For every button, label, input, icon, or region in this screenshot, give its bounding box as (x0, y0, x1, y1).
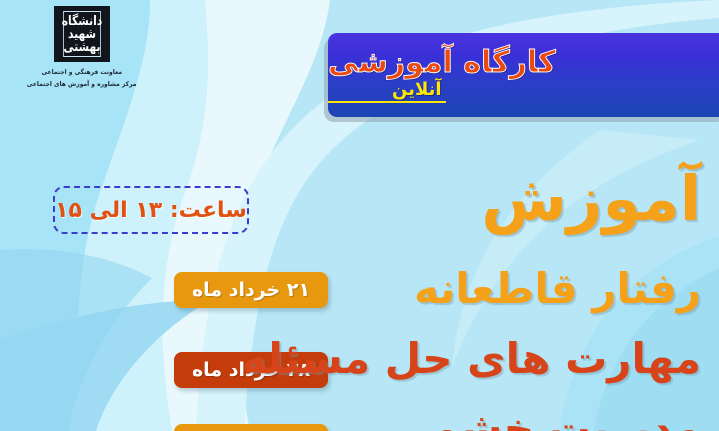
topic-heading: مدیریت خشم (428, 408, 701, 431)
university-seal-text: دانشگاه شهید بهشتی (63, 11, 101, 57)
logo-caption-line-2: مرکز مشاوره و آموزش های اجتماعی (27, 79, 137, 90)
university-logo: دانشگاه شهید بهشتی معاونت فرهنگی و اجتما… (22, 8, 142, 120)
header-banner: کارگاه آموزشی آنلاین (328, 33, 719, 117)
time-chip: ساعت: ۱۳ الی ۱۵ (53, 186, 249, 234)
date-pill: ۲۱ خرداد ماه (174, 272, 328, 308)
university-seal-icon: دانشگاه شهید بهشتی (56, 8, 108, 60)
topic-heading: رفتار قاطعانه (414, 268, 701, 310)
banner-title: کارگاه آموزشی (328, 47, 556, 79)
workshop-poster: دانشگاه شهید بهشتی معاونت فرهنگی و اجتما… (0, 0, 719, 431)
banner-subtitle: آنلاین (328, 80, 446, 103)
topic-heading: آموزش (481, 168, 701, 230)
time-label: ساعت: ۱۳ الی ۱۵ (55, 198, 247, 223)
topic-heading: مهارت های حل مسئله (242, 338, 701, 380)
logo-caption-line-1: معاونت فرهنگی و اجتماعی (42, 67, 123, 78)
date-pill: ۴ تیر ماه (174, 424, 328, 431)
date-label: ۲۱ خرداد ماه (192, 279, 310, 301)
